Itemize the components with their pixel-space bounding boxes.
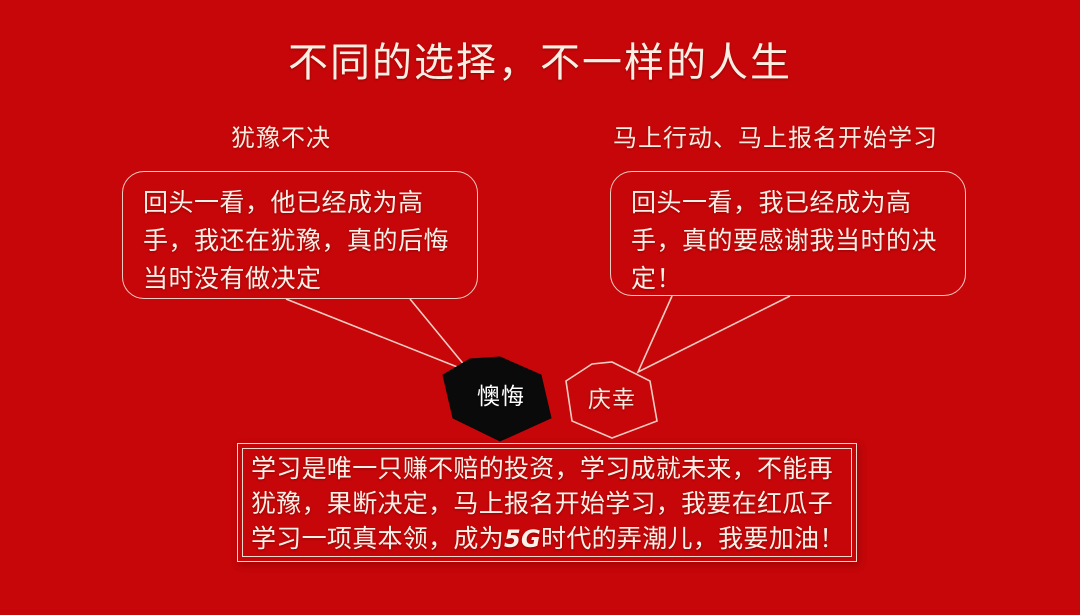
bubble-tail-left [286,299,470,372]
conclusion-box: 学习是唯一只赚不赔的投资，学习成就未来，不能再犹豫，果断决定，马上报名开始学习，… [237,443,857,562]
conclusion-5g-highlight: 5G [504,525,541,553]
slide-canvas: 不同的选择，不一样的人生 犹豫不决 马上行动、马上报名开始学习 回头一看，他已经… [0,0,1080,615]
column-heading-right: 马上行动、马上报名开始学习 [613,122,938,154]
column-heading-left: 犹豫不决 [231,122,331,154]
speech-bubble-right-text: 回头一看，我已经成为高手，真的要感谢我当时的决定！ [631,184,956,298]
speech-bubble-left: 回头一看，他已经成为高手，我还在犹豫，真的后悔当时没有做决定 [122,171,478,299]
page-title: 不同的选择，不一样的人生 [0,38,1080,88]
conclusion-text-part-2: 时代的弄潮儿，我要加油！ [541,524,845,553]
bubble-tail-right [638,296,790,372]
speech-bubble-right: 回头一看，我已经成为高手，真的要感谢我当时的决定！ [610,171,966,296]
speech-bubble-left-text: 回头一看，他已经成为高手，我还在犹豫，真的后悔当时没有做决定 [143,184,463,298]
outcome-label-regret: 懊悔 [463,386,539,409]
outcome-label-glad: 庆幸 [573,389,651,412]
conclusion-text: 学习是唯一只赚不赔的投资，学习成就未来，不能再犹豫，果断决定，马上报名开始学习，… [251,451,847,557]
